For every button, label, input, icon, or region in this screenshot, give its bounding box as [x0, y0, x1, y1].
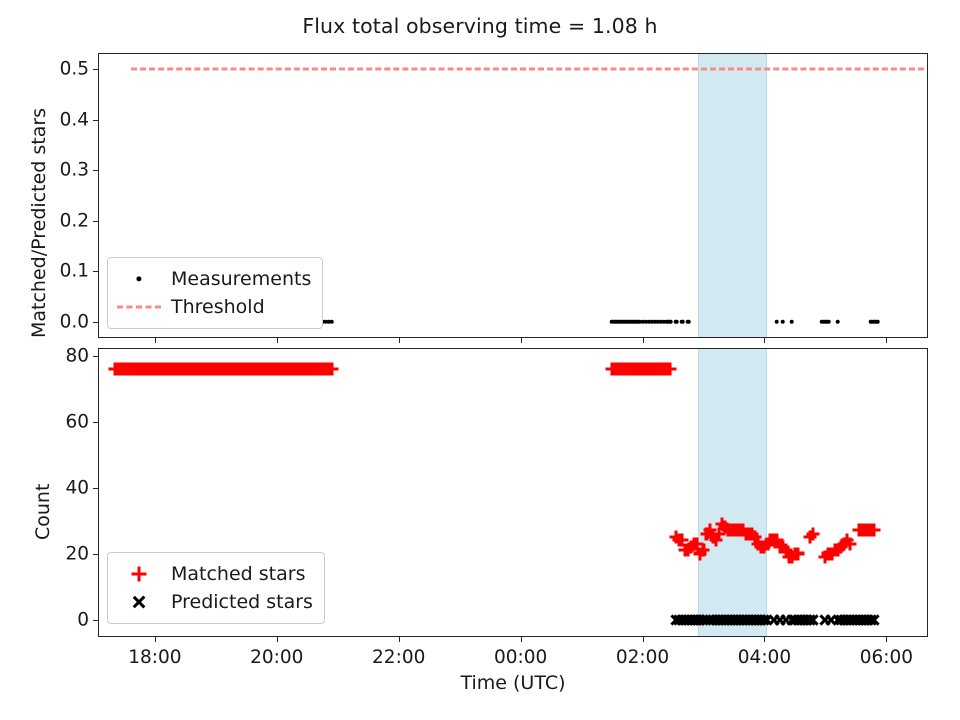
- measurement-point: [780, 320, 785, 325]
- x-tick-label: 22:00: [372, 647, 425, 668]
- legend-label-matched-stars: Matched stars: [171, 563, 305, 585]
- top-panel-legend[interactable]: Measurements Threshold: [107, 257, 323, 329]
- y-tick-mark: [93, 120, 99, 121]
- y-tick-label: 0.1: [60, 261, 89, 282]
- y-tick-mark: [93, 69, 99, 70]
- top-panel-axes: 0.00.10.20.30.40.5 Measurements Threshol…: [98, 53, 928, 338]
- y-tick-mark: [93, 488, 99, 489]
- x-tick-mark: [886, 337, 887, 343]
- y-tick-label: 40: [65, 477, 89, 498]
- measurement-point: [875, 320, 880, 325]
- legend-label-predicted-stars: Predicted stars: [171, 591, 313, 613]
- legend-item-predicted-stars[interactable]: Predicted stars: [117, 588, 313, 616]
- x-tick-mark: [277, 337, 278, 343]
- x-tick-mark: [521, 636, 522, 642]
- legend-label-measurements: Measurements: [171, 268, 311, 290]
- y-tick-mark: [93, 271, 99, 272]
- y-tick-mark: [93, 422, 99, 423]
- y-tick-label: 0.4: [60, 109, 89, 130]
- x-tick-label: 06:00: [860, 647, 913, 668]
- y-tick-mark: [93, 554, 99, 555]
- y-tick-mark: [93, 170, 99, 171]
- matched-star-marker: [868, 524, 881, 537]
- figure-canvas: Flux total observing time = 1.08 h 0.00.…: [0, 0, 960, 720]
- y-tick-label: 20: [65, 543, 89, 564]
- legend-item-matched-stars[interactable]: Matched stars: [117, 560, 313, 588]
- x-tick-label: 00:00: [494, 647, 547, 668]
- dot-marker-icon: [117, 268, 161, 290]
- highlight-span: [698, 349, 767, 636]
- x-tick-label: 02:00: [616, 647, 669, 668]
- matched-star-marker: [807, 527, 820, 540]
- x-tick-mark: [155, 636, 156, 642]
- measurement-point: [674, 320, 679, 325]
- bottom-panel-axes: 020406080 18:0020:0022:0000:0002:0004:00…: [98, 348, 928, 637]
- x-tick-mark: [277, 636, 278, 642]
- measurement-point: [668, 320, 673, 325]
- x-tick-mark: [886, 636, 887, 642]
- x-tick-mark: [764, 636, 765, 642]
- measurement-point: [680, 320, 685, 325]
- y-tick-label: 60: [65, 411, 89, 432]
- measurement-point: [774, 320, 779, 325]
- x-tick-mark: [764, 337, 765, 343]
- bottom-panel-legend[interactable]: Matched stars Predicted stars: [107, 552, 325, 624]
- predicted-star-marker: [807, 613, 820, 626]
- measurement-point: [826, 320, 831, 325]
- x-tick-mark: [399, 636, 400, 642]
- page-title: Flux total observing time = 1.08 h: [0, 14, 960, 38]
- y-tick-mark: [93, 322, 99, 323]
- top-panel-y-axis-label: Matched/Predicted stars: [28, 108, 50, 338]
- y-tick-label: 0.2: [60, 210, 89, 231]
- measurement-point: [790, 320, 795, 325]
- x-tick-label: 20:00: [250, 647, 303, 668]
- y-tick-mark: [93, 221, 99, 222]
- y-tick-label: 0: [77, 609, 89, 630]
- y-tick-label: 80: [65, 345, 89, 366]
- x-marker-icon: [117, 591, 161, 613]
- legend-item-threshold[interactable]: Threshold: [117, 293, 311, 321]
- matched-star-marker: [325, 362, 338, 375]
- x-tick-mark: [643, 636, 644, 642]
- y-tick-mark: [93, 620, 99, 621]
- y-tick-mark: [93, 356, 99, 357]
- x-tick-mark: [643, 337, 644, 343]
- threshold-line: [131, 68, 923, 71]
- measurement-point: [686, 320, 691, 325]
- x-tick-mark: [399, 337, 400, 343]
- dashed-line-icon: [117, 296, 161, 318]
- legend-item-measurements[interactable]: Measurements: [117, 265, 311, 293]
- y-tick-label: 0.3: [60, 160, 89, 181]
- x-axis-label: Time (UTC): [98, 672, 928, 694]
- matched-star-marker: [663, 362, 676, 375]
- highlight-span: [698, 54, 767, 337]
- y-tick-label: 0.5: [60, 59, 89, 80]
- x-tick-mark: [155, 337, 156, 343]
- matched-star-marker: [791, 547, 804, 560]
- measurement-point: [329, 320, 334, 325]
- x-tick-label: 04:00: [738, 647, 791, 668]
- x-tick-mark: [521, 337, 522, 343]
- x-tick-label: 18:00: [128, 647, 181, 668]
- measurement-point: [835, 320, 840, 325]
- plus-marker-icon: [117, 563, 161, 585]
- matched-star-marker: [843, 537, 856, 550]
- predicted-star-marker: [868, 613, 881, 626]
- legend-label-threshold: Threshold: [171, 296, 265, 318]
- y-tick-label: 0.0: [60, 311, 89, 332]
- bottom-panel-y-axis-label: Count: [32, 484, 54, 540]
- matched-star-marker: [697, 544, 710, 557]
